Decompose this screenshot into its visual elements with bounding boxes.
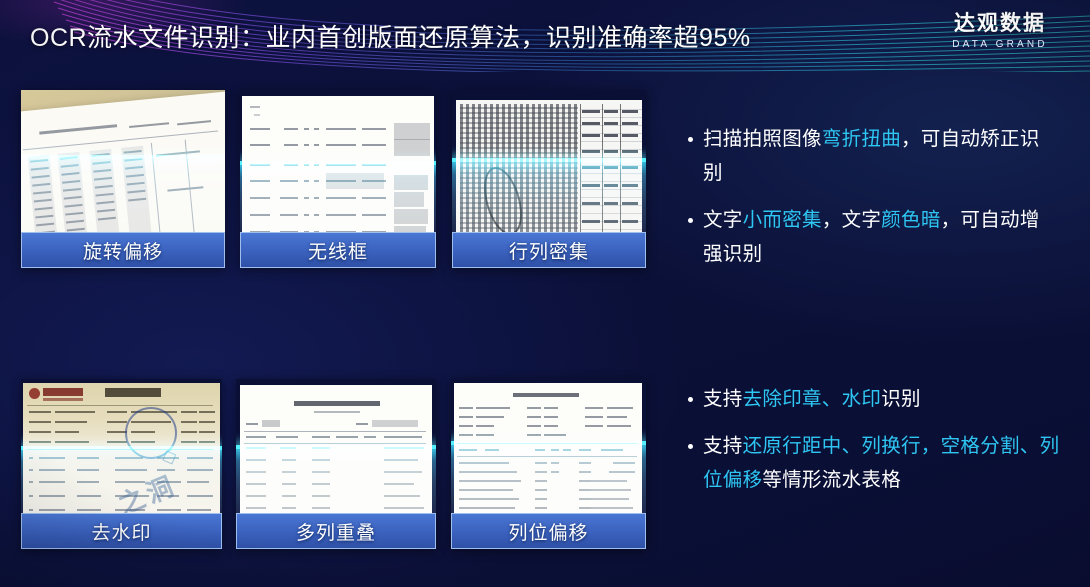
- card-image-remove-watermark: 之洞 ◇: [21, 379, 222, 513]
- bullet-group-upper: 扫描拍照图像弯折扭曲，可自动矫正识别 文字小而密集，文字颜色暗，可自动增强识别: [686, 122, 1058, 284]
- bullet-item: 支持还原行距中、列换行，空格分割、列位偏移等情形流水表格: [686, 429, 1068, 497]
- bullet-highlight-text: 颜色暗: [881, 209, 940, 231]
- bullet-group-lower: 支持去除印章、水印识别 支持还原行距中、列换行，空格分割、列位偏移等情形流水表格: [686, 382, 1068, 510]
- slide-canvas: OCR流水文件识别：业内首创版面还原算法，识别准确率超95% 达观数据 DATA…: [0, 0, 1090, 587]
- bullet-plain-text: 支持: [703, 388, 743, 410]
- card-remove-watermark[interactable]: 之洞 ◇ 去水印: [21, 379, 222, 549]
- bullet-item: 支持去除印章、水印识别: [686, 382, 1068, 416]
- bullet-plain-text: 文字: [703, 209, 743, 231]
- sample-card-grid: 旋转偏移: [0, 0, 660, 587]
- bullet-highlight-text: 去除印章、水印: [743, 388, 882, 410]
- bullet-plain-text: 等情形流水表格: [762, 469, 901, 491]
- card-image-dense-grid: [452, 90, 646, 232]
- logo-text-cn: 达观数据: [932, 12, 1068, 36]
- bullet-highlight-text: 小而密集: [743, 209, 822, 231]
- card-dense-grid[interactable]: 行列密集: [452, 90, 646, 268]
- card-rotation-offset[interactable]: 旋转偏移: [21, 90, 225, 268]
- bullet-plain-text: 识别: [881, 388, 921, 410]
- card-image-column-overlap: [236, 379, 436, 513]
- card-label-borderless: 无线框: [240, 232, 436, 268]
- bullet-item: 扫描拍照图像弯折扭曲，可自动矫正识别: [686, 122, 1058, 190]
- card-borderless[interactable]: 无线框: [240, 90, 436, 268]
- card-image-borderless: [240, 90, 436, 232]
- card-label-column-shift: 列位偏移: [451, 513, 646, 549]
- bullet-highlight-text: 弯折扭曲: [822, 128, 901, 150]
- card-image-column-shift: [451, 379, 646, 513]
- card-column-shift[interactable]: 列位偏移: [451, 379, 646, 549]
- logo-text-en: DATA GRAND: [932, 39, 1068, 50]
- bullet-plain-text: ，文字: [822, 209, 881, 231]
- bullet-plain-text: 支持: [703, 435, 743, 457]
- bullet-item: 文字小而密集，文字颜色暗，可自动增强识别: [686, 203, 1058, 271]
- card-label-remove-watermark: 去水印: [21, 513, 222, 549]
- card-label-rotation-offset: 旋转偏移: [21, 232, 225, 268]
- card-column-overlap[interactable]: 多列重叠: [236, 379, 436, 549]
- card-label-column-overlap: 多列重叠: [236, 513, 436, 549]
- card-label-dense-grid: 行列密集: [452, 232, 646, 268]
- brand-logo: 达观数据 DATA GRAND: [932, 12, 1068, 50]
- bullet-plain-text: 扫描拍照图像: [703, 128, 822, 150]
- card-image-rotation-offset: [21, 90, 225, 232]
